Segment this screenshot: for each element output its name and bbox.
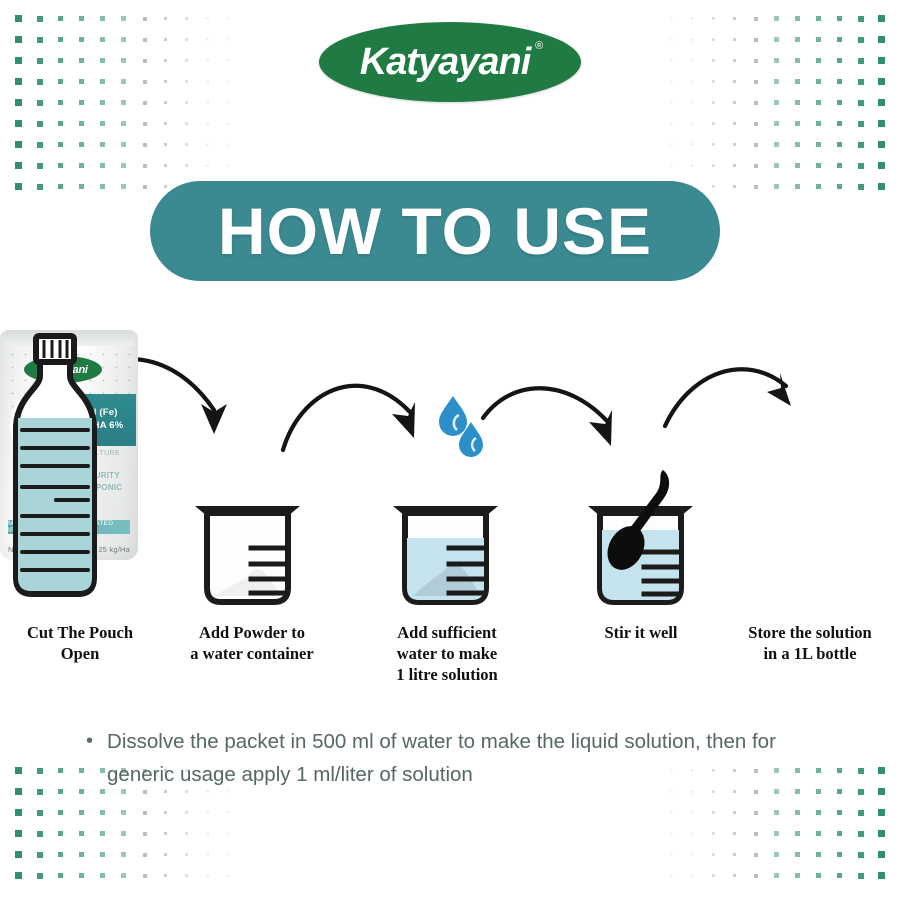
step-store: Store the solution in a 1L bottle	[0, 330, 110, 605]
banner-title: HOW TO USE	[218, 198, 652, 264]
caption-add-water: Add sufficient water to make 1 litre sol…	[362, 622, 532, 685]
caption-line: Stir it well	[575, 622, 707, 643]
caption-cut-pouch: Cut The Pouch Open	[0, 622, 160, 664]
caption-line: Add sufficient	[362, 622, 532, 643]
beaker-stir-icon	[578, 460, 703, 610]
usage-note: • Dissolve the packet in 500 ml of water…	[86, 726, 826, 792]
caption-line: Add Powder to	[168, 622, 336, 643]
registered-mark-icon: ®	[535, 41, 542, 52]
caption-stir: Stir it well	[575, 622, 707, 643]
infographic-page: Katyayani® HOW TO USE	[0, 0, 900, 900]
caption-line: in a 1L bottle	[725, 643, 895, 664]
bottle-icon	[0, 330, 110, 605]
bullet-icon: •	[86, 726, 93, 757]
how-to-use-banner: HOW TO USE	[150, 181, 720, 281]
caption-add-powder: Add Powder to a water container	[168, 622, 336, 664]
steps-container: Katyayani IRON (Fe) EDDHA 6%	[0, 330, 900, 690]
caption-line: a water container	[168, 643, 336, 664]
logo-text: Katyayani®	[360, 43, 541, 81]
caption-line: Open	[0, 643, 160, 664]
dot-pattern-top-right	[661, 8, 892, 197]
beaker-empty-icon	[185, 460, 310, 610]
logo-ellipse: Katyayani®	[319, 22, 581, 102]
caption-store: Store the solution in a 1L bottle	[725, 622, 895, 664]
brand-logo: Katyayani®	[319, 22, 581, 102]
caption-line: 1 litre solution	[362, 664, 532, 685]
usage-note-text: Dissolve the packet in 500 ml of water t…	[107, 726, 826, 792]
caption-line: Cut The Pouch	[0, 622, 160, 643]
beaker-water-icon	[383, 460, 508, 610]
caption-line: water to make	[362, 643, 532, 664]
caption-line: Store the solution	[725, 622, 895, 643]
dot-pattern-top-left	[8, 8, 239, 197]
logo-brand-name: Katyayani	[360, 41, 531, 83]
water-droplet-icon	[435, 388, 495, 468]
